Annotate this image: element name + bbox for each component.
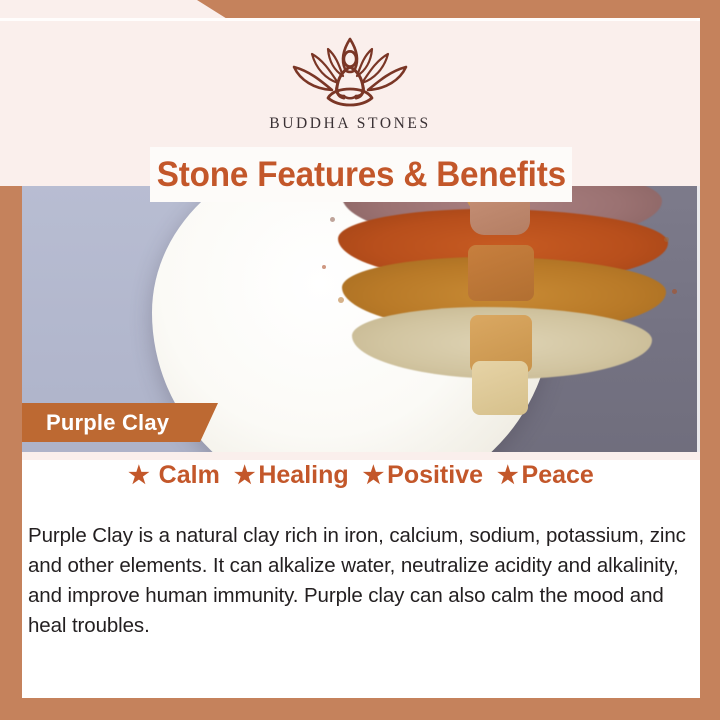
benefit-item-healing: ★ Healing xyxy=(234,461,349,490)
poster-header: BUDDHA STONES Stone Features & Benefits xyxy=(0,21,700,186)
star-icon: ★ xyxy=(363,464,385,488)
product-name-tag: Purple Clay xyxy=(22,403,218,442)
brand-name: BUDDHA STONES xyxy=(0,115,700,133)
clay-tablet xyxy=(468,245,534,301)
content-panel: ★ Calm ★ Healing ★ Positive ★ Peace Purp… xyxy=(22,452,700,698)
powder-speck xyxy=(672,289,677,294)
benefit-item-positive: ★ Positive xyxy=(363,461,483,490)
powder-speck xyxy=(338,297,344,303)
benefit-label: Calm xyxy=(159,461,220,490)
frame-left-border xyxy=(0,186,22,720)
brand-logo: BUDDHA STONES xyxy=(0,29,700,133)
powder-speck xyxy=(330,217,335,222)
star-icon: ★ xyxy=(497,464,519,488)
lotus-meditation-icon xyxy=(266,29,434,113)
frame-bottom-border xyxy=(0,698,702,720)
title-banner: Stone Features & Benefits xyxy=(150,147,572,202)
star-icon: ★ xyxy=(128,464,150,488)
benefit-label: Peace xyxy=(522,461,594,490)
powder-speck xyxy=(322,265,326,269)
star-icon: ★ xyxy=(234,464,256,488)
powder-speck xyxy=(664,237,669,242)
benefit-item-calm: ★ Calm xyxy=(128,461,220,490)
clay-tablet xyxy=(472,361,528,415)
benefits-row: ★ Calm ★ Healing ★ Positive ★ Peace xyxy=(22,461,700,490)
content-top-band xyxy=(22,452,700,460)
product-name-label: Purple Clay xyxy=(46,410,169,436)
product-infographic-poster: BUDDHA STONES Stone Features & Benefits xyxy=(0,0,720,720)
page-title: Stone Features & Benefits xyxy=(156,155,565,195)
benefit-label: Positive xyxy=(387,461,483,490)
benefit-label: Healing xyxy=(258,461,348,490)
benefit-item-peace: ★ Peace xyxy=(497,461,594,490)
product-description: Purple Clay is a natural clay rich in ir… xyxy=(28,521,690,641)
